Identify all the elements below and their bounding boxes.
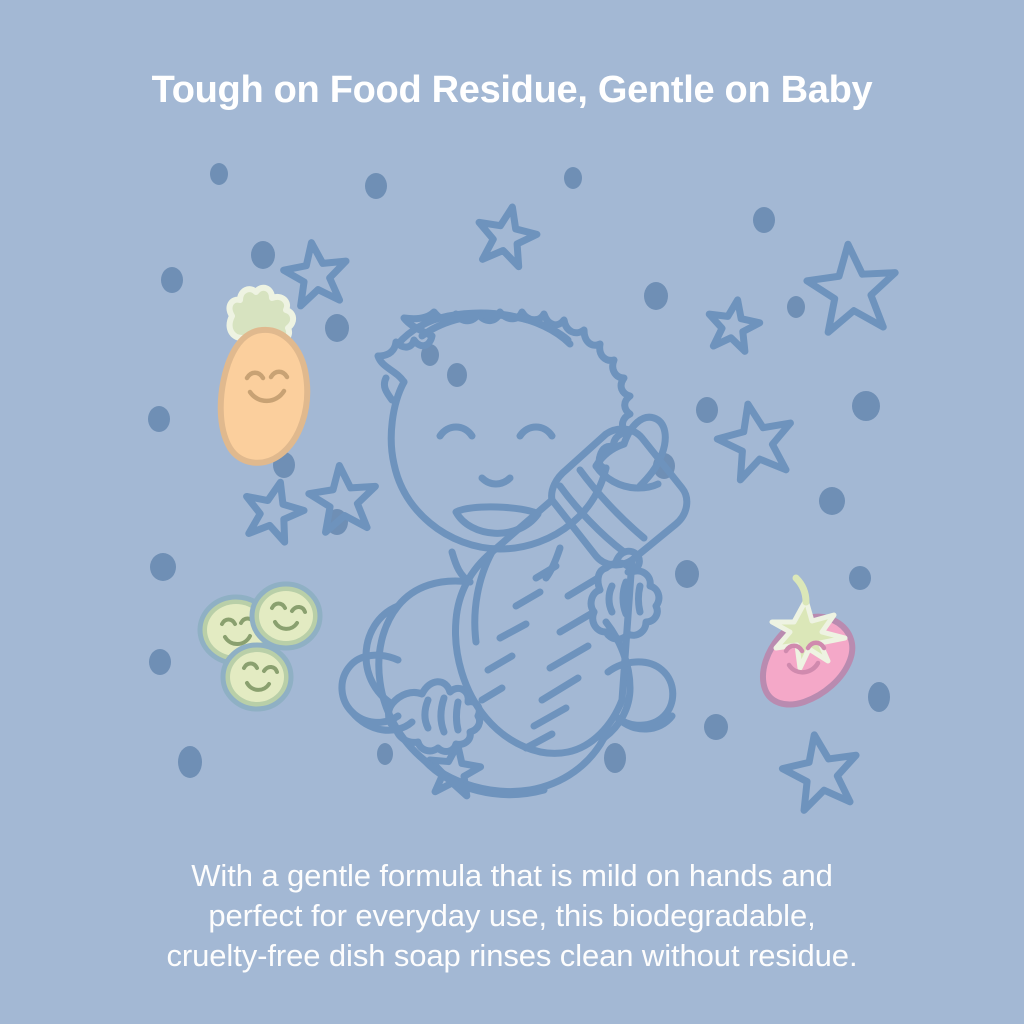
smiling-carrot	[221, 288, 307, 463]
confetti-dot	[819, 487, 845, 515]
confetti-dot	[447, 363, 467, 387]
confetti-dot	[149, 649, 171, 675]
confetti-dot	[564, 167, 582, 189]
confetti-dot	[161, 267, 183, 293]
star-outlines	[238, 201, 900, 813]
description-text: With a gentle formula that is mild on ha…	[0, 856, 1024, 976]
confetti-dot	[852, 391, 880, 421]
confetti-dot	[604, 743, 626, 773]
star-outline	[804, 240, 900, 333]
description-line-1: With a gentle formula that is mild on ha…	[0, 856, 1024, 896]
confetti-dot	[150, 553, 176, 581]
confetti-dot	[868, 682, 890, 712]
confetti-dot	[325, 314, 349, 342]
baby-bottle-line-art	[456, 417, 687, 753]
confetti-dot	[210, 163, 228, 185]
confetti-dots	[148, 163, 890, 778]
confetti-dot	[365, 173, 387, 199]
cucumber-slice	[223, 645, 291, 709]
confetti-dot	[849, 566, 871, 590]
page-title: Tough on Food Residue, Gentle on Baby	[0, 70, 1024, 112]
star-outline	[238, 475, 309, 545]
smiling-strawberry	[763, 578, 852, 704]
star-outline	[778, 728, 864, 812]
star-outline	[704, 295, 763, 353]
confetti-dot	[178, 746, 202, 778]
confetti-dot	[326, 509, 348, 535]
description-line-2: perfect for everyday use, this biodegrad…	[0, 896, 1024, 936]
smiling-cucumber-slices	[200, 584, 320, 709]
confetti-dot	[675, 560, 699, 588]
confetti-dot	[753, 207, 775, 233]
confetti-dot	[787, 296, 805, 318]
cucumber-slice	[252, 584, 320, 648]
star-outline	[306, 462, 379, 534]
star-outline	[280, 238, 351, 307]
description-line-3: cruelty-free dish soap rinses clean with…	[0, 936, 1024, 976]
baby-line-art	[342, 312, 673, 795]
confetti-dot	[653, 453, 675, 479]
star-outline	[426, 741, 484, 797]
confetti-dot	[273, 452, 295, 478]
confetti-dot	[421, 344, 439, 366]
star-outline	[712, 396, 800, 483]
star-outline	[472, 201, 542, 269]
confetti-dot	[148, 406, 170, 432]
confetti-dot	[644, 282, 668, 310]
confetti-dot	[696, 397, 718, 423]
confetti-dot	[377, 743, 393, 765]
confetti-dot	[251, 241, 275, 269]
confetti-dot	[704, 714, 728, 740]
cucumber-slice	[200, 597, 272, 663]
product-card: Tough on Food Residue, Gentle on Baby	[0, 0, 1024, 1024]
